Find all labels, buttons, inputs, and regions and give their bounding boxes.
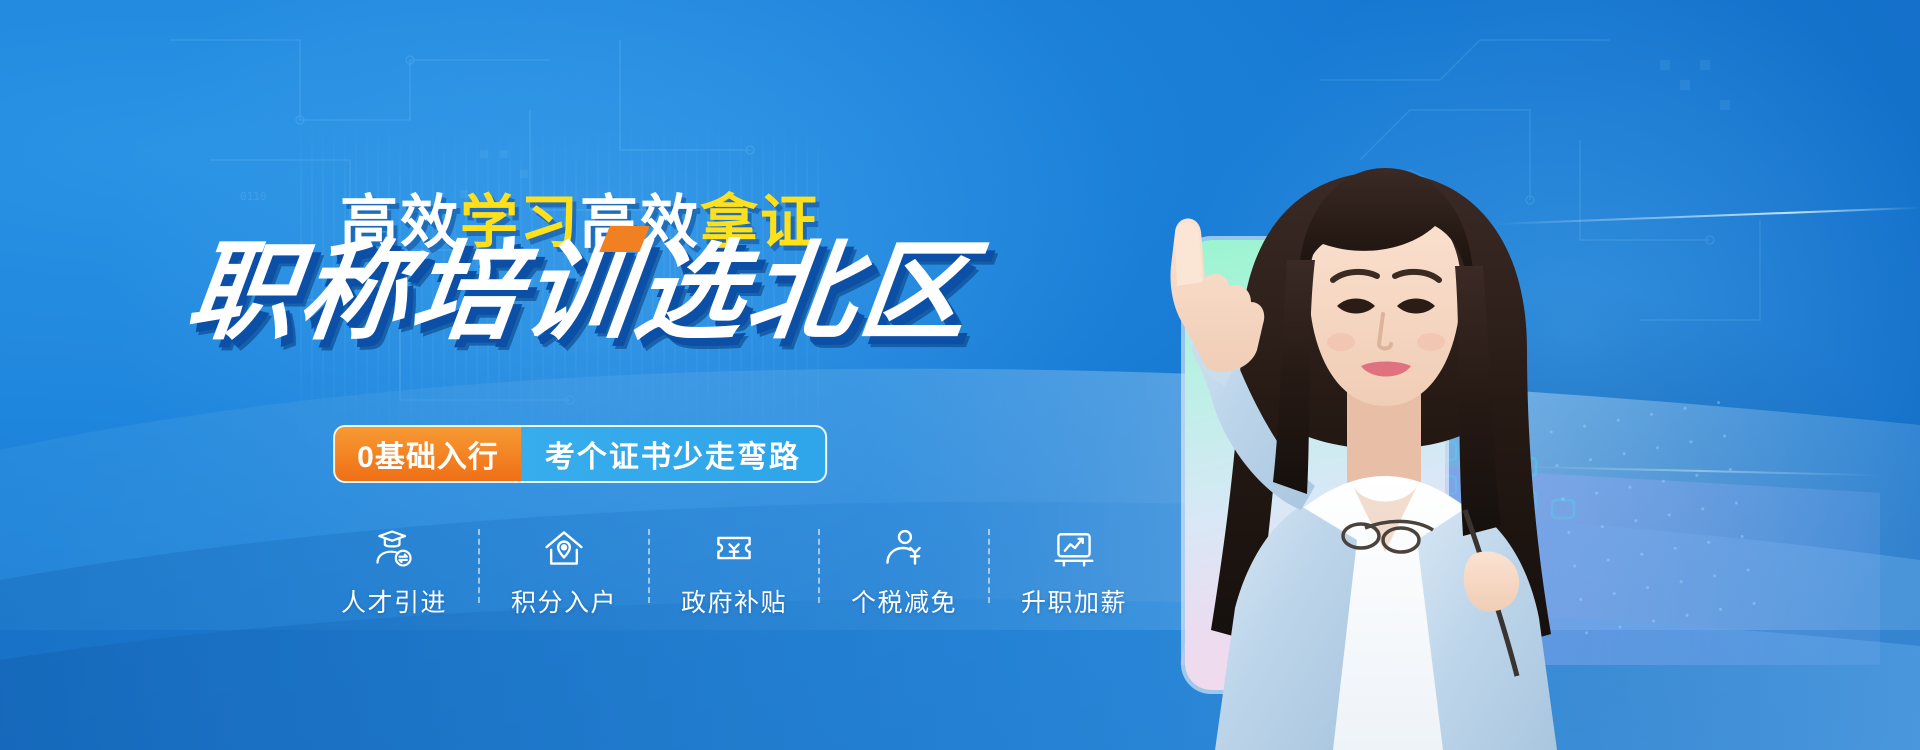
main-headline: 职称培训选北区 [0, 232, 1167, 353]
feature-item-talent-introduction[interactable]: 人才引进 [310, 525, 478, 619]
instructor-photo [1065, 110, 1705, 750]
feature-label: 个税减免 [851, 583, 957, 619]
badge-left-label: 0基础入行 [335, 427, 521, 481]
chart-board-icon [1052, 525, 1096, 571]
feature-item-government-subsidy[interactable]: 政府补贴 [650, 525, 818, 619]
main-headline-text: 职称培训选北区 [181, 231, 980, 352]
promo-banner: 2.391011 0110 [0, 0, 1920, 750]
feature-item-points-residency[interactable]: 积分入户 [480, 525, 648, 619]
feature-label: 政府补贴 [681, 583, 787, 619]
feature-label: 人才引进 [341, 583, 447, 619]
tagline-badge: 0基础入行 考个证书少走弯路 [333, 425, 827, 483]
graduate-person-icon [372, 525, 416, 571]
house-pin-icon [542, 525, 586, 571]
feature-label: 升职加薪 [1021, 583, 1127, 619]
feature-item-promotion-raise[interactable]: 升职加薪 [990, 525, 1158, 619]
feature-list: 人才引进 积分入户 [310, 525, 1158, 619]
feature-label: 积分入户 [511, 583, 617, 619]
person-yuan-icon [882, 525, 926, 571]
instructor-photo-composition [1065, 110, 1705, 750]
copy-block: 高效学习高效拿证 职称培训选北区 0基础入行 考个证书少走弯路 [0, 0, 1160, 750]
feature-item-tax-reduction[interactable]: 个税减免 [820, 525, 988, 619]
ticket-yuan-icon [712, 525, 756, 571]
badge-right-label: 考个证书少走弯路 [521, 427, 825, 481]
